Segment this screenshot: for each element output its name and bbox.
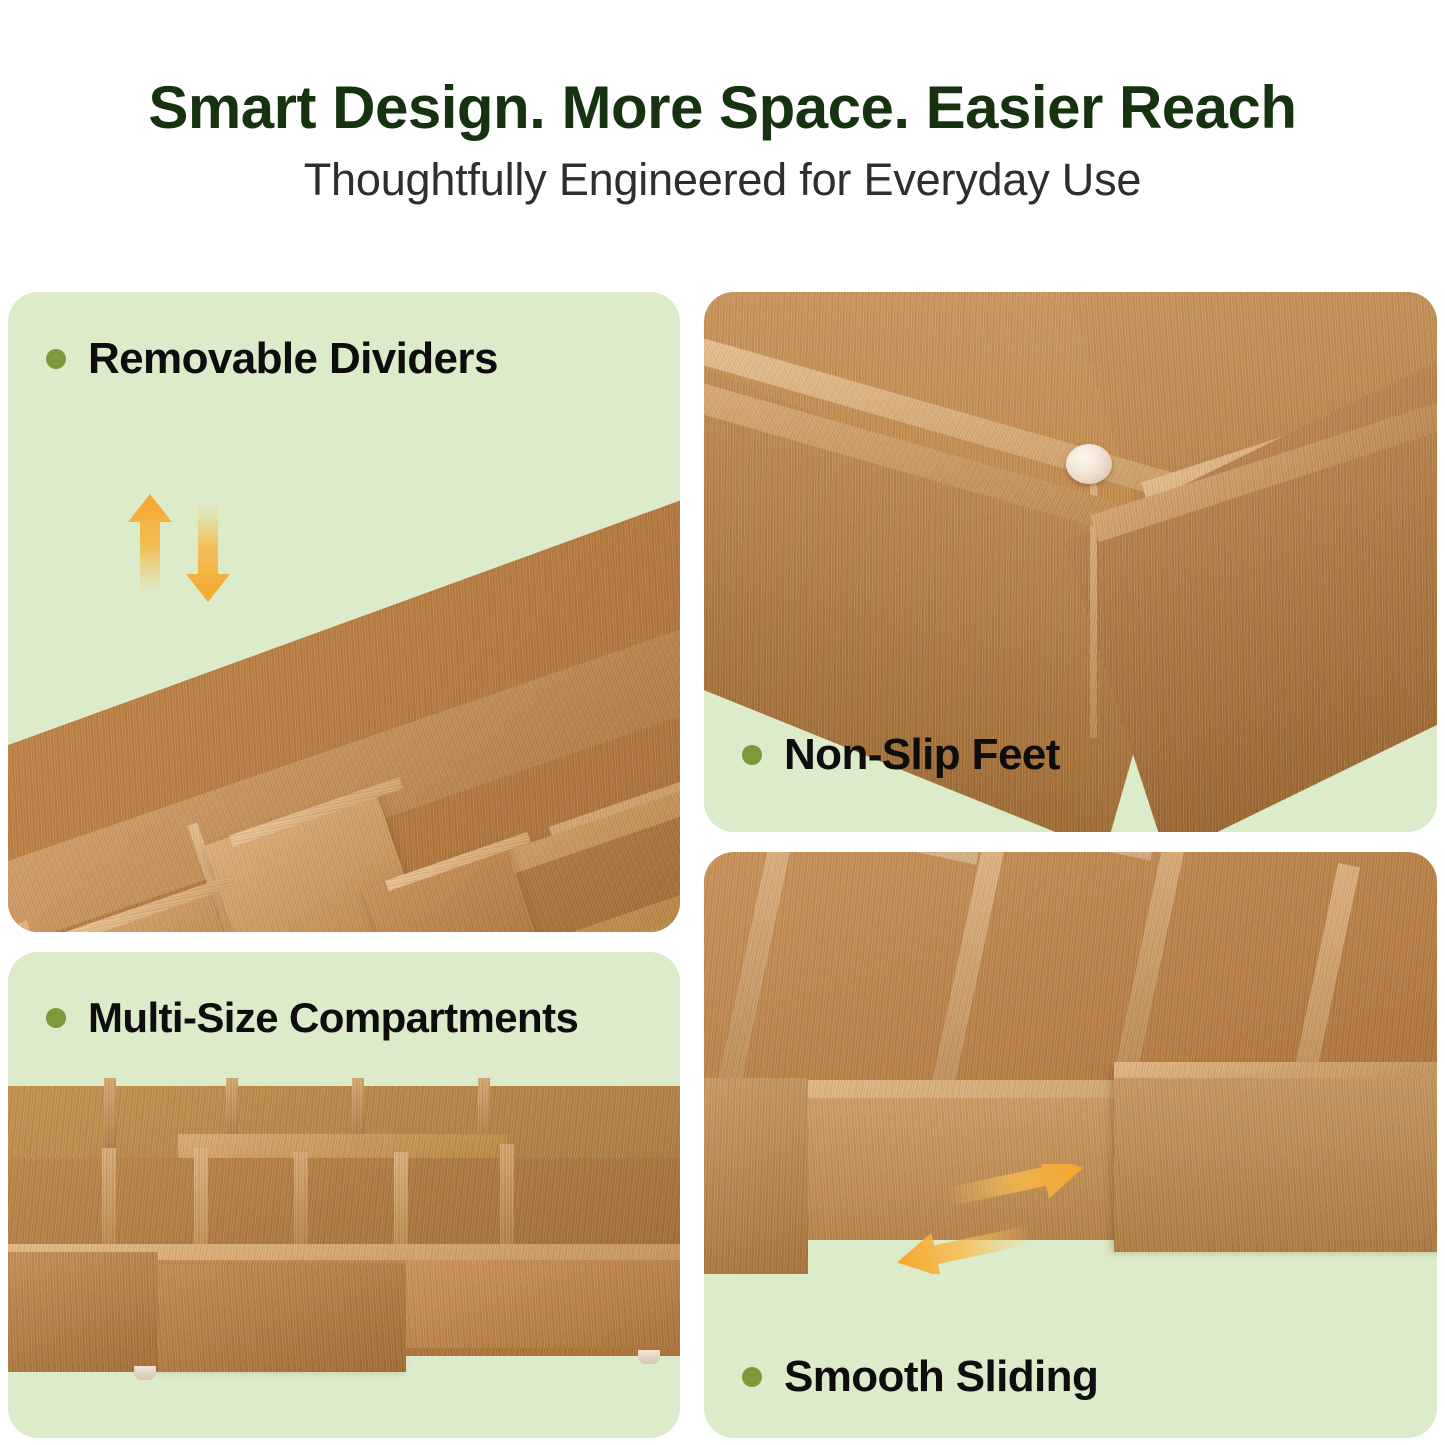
feature-label-text: Multi-Size Compartments (88, 994, 578, 1042)
non-slip-foot-pad (1066, 444, 1112, 484)
bullet-dot-icon (46, 349, 66, 369)
feature-card-non-slip-feet: Non-Slip Feet (704, 292, 1437, 832)
left-extension-panel (8, 1252, 158, 1372)
back-divider-3 (352, 1078, 364, 1136)
sliding-overlap-panel[interactable] (1114, 1070, 1437, 1252)
removable-dividers-illustration (8, 292, 680, 932)
divider-direction-arrows (120, 488, 240, 608)
smooth-sliding-illustration (704, 852, 1437, 1438)
feature-label-text: Removable Dividers (88, 334, 498, 384)
feature-card-grid: Removable Dividers (0, 0, 1445, 1445)
left-support-post (704, 1078, 808, 1274)
card-label-smooth-sliding: Smooth Sliding (742, 1352, 1098, 1402)
bullet-dot-icon (742, 745, 762, 765)
feature-label-text: Non-Slip Feet (784, 730, 1060, 780)
back-divider-4 (478, 1078, 490, 1142)
card-label-multi-size-compartments: Multi-Size Compartments (46, 994, 578, 1042)
organizer-front-wall-right (406, 1252, 680, 1348)
feature-card-smooth-sliding: Smooth Sliding (704, 852, 1437, 1438)
back-divider-2 (226, 1078, 238, 1136)
card-label-non-slip-feet: Non-Slip Feet (742, 730, 1060, 780)
organizer-foot-right (638, 1350, 660, 1364)
feature-card-multi-size-compartments: Multi-Size Compartments (8, 952, 680, 1438)
card-label-removable-dividers: Removable Dividers (46, 334, 498, 384)
organizer-foot-left (134, 1366, 156, 1380)
bullet-dot-icon (742, 1367, 762, 1387)
organizer-front-wall-overlap (158, 1264, 406, 1372)
sliding-direction-arrows (886, 1164, 1096, 1274)
back-divider-1 (104, 1078, 116, 1152)
arrow-up-down-icon (120, 488, 240, 608)
infographic-page: Smart Design. More Space. Easier Reach T… (0, 0, 1445, 1445)
bullet-dot-icon (46, 1008, 66, 1028)
sliding-overlap-top-rim (1114, 1062, 1437, 1078)
feature-card-removable-dividers: Removable Dividers (8, 292, 680, 932)
feature-label-text: Smooth Sliding (784, 1352, 1098, 1402)
mid-shelf-band (178, 1134, 508, 1160)
arrow-left-right-icon (886, 1164, 1096, 1274)
